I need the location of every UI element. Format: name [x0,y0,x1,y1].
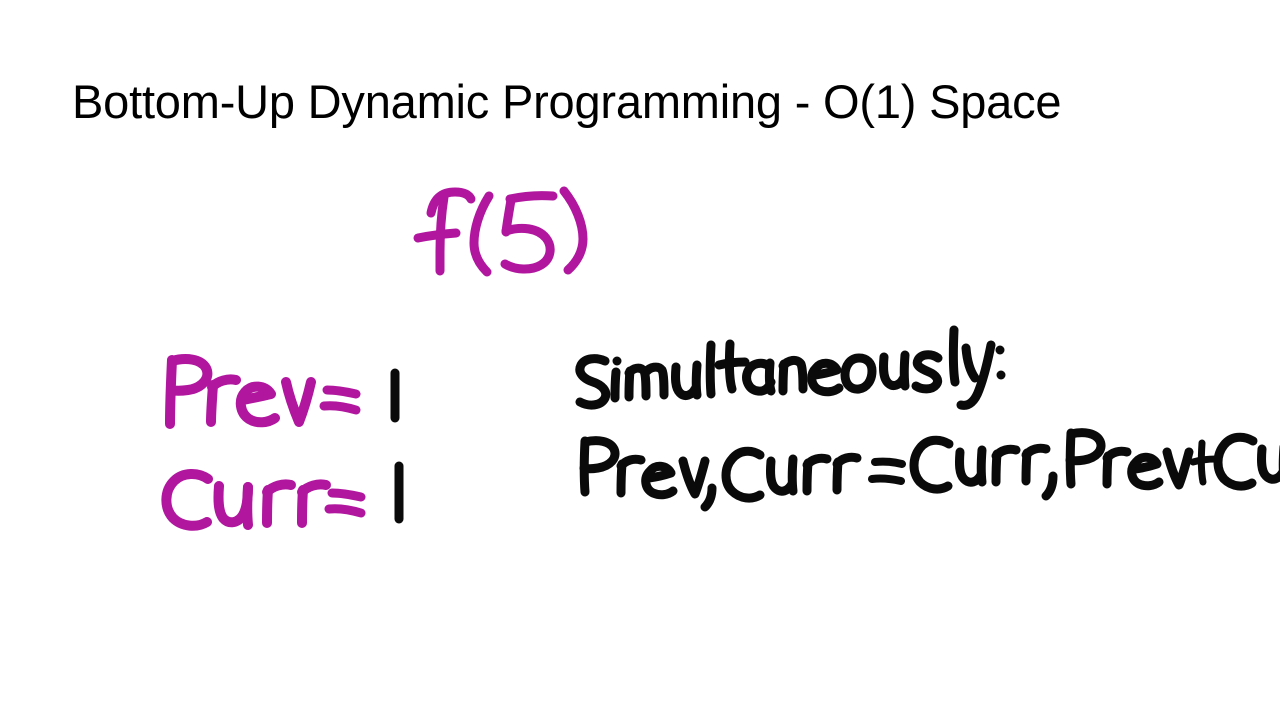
slide-canvas: Bottom-Up Dynamic Programming - O(1) Spa… [0,0,1280,720]
page-title: Bottom-Up Dynamic Programming - O(1) Spa… [72,78,1061,125]
annotation-prev-assignment: Prev = 1 [162,352,407,428]
annotation-curr-assignment: Curr = 1 [162,462,407,532]
annotation-note-assignment: Prev, Curr = Curr, Prev + Curr [576,428,1280,510]
annotation-note-heading: Simultaneously: [576,326,1006,410]
annotation-call-expression: f(5) [418,186,593,278]
